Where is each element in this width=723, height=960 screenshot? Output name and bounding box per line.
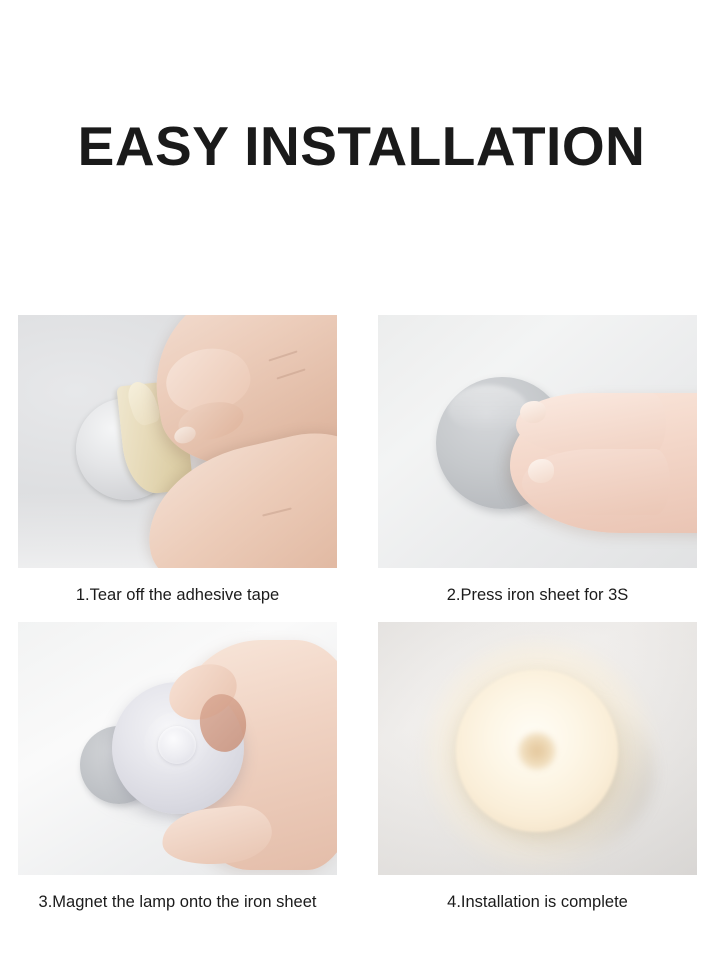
step-2: 2.Press iron sheet for 3S (378, 315, 697, 622)
infographic-page: EASY INSTALLATION 1.Tear off the adhesiv… (0, 0, 723, 960)
fingernail-index (520, 401, 546, 423)
step-1-photo (18, 315, 337, 568)
step-1: 1.Tear off the adhesive tape (18, 315, 337, 622)
step-4: 4.Installation is complete (378, 622, 697, 929)
page-title: EASY INSTALLATION (78, 118, 646, 176)
photo-vignette (378, 622, 697, 875)
step-2-caption: 2.Press iron sheet for 3S (378, 568, 697, 622)
installation-steps-grid: 1.Tear off the adhesive tape 2.Press iro… (18, 315, 698, 929)
lamp-sensor-dome (158, 726, 196, 764)
step-4-photo (378, 622, 697, 875)
step-3-caption: 3.Magnet the lamp onto the iron sheet (18, 875, 337, 929)
step-4-caption: 4.Installation is complete (378, 875, 697, 929)
fingernail-middle (528, 459, 554, 483)
step-3: 3.Magnet the lamp onto the iron sheet (18, 622, 337, 929)
step-1-caption: 1.Tear off the adhesive tape (18, 568, 337, 622)
page-title-block: EASY INSTALLATION (0, 118, 723, 176)
step-2-photo (378, 315, 697, 568)
step-3-photo (18, 622, 337, 875)
